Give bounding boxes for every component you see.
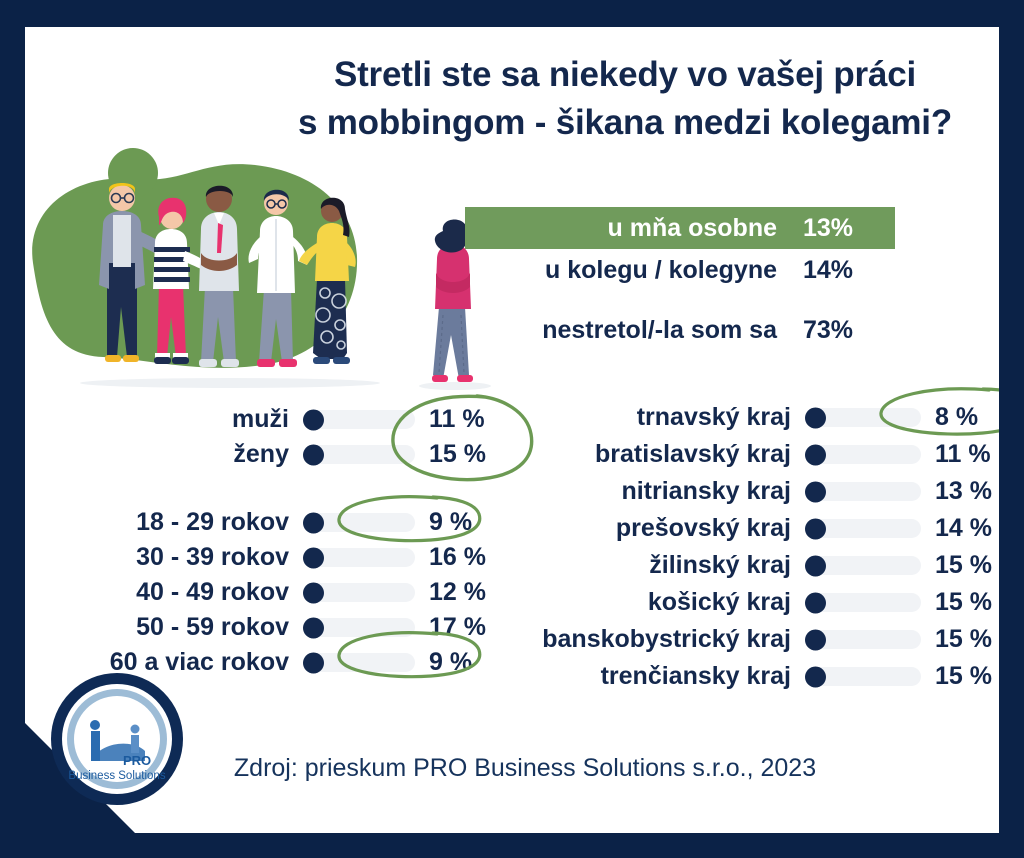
logo-bottom-text: Business Solutions	[68, 770, 165, 782]
stat-label: muži	[85, 405, 303, 434]
stat-row-trnavsky: trnavský kraj 8 %	[515, 399, 999, 436]
stat-value: 15 %	[921, 551, 992, 580]
stat-dot-icon	[303, 512, 324, 533]
stat-dot-icon	[303, 409, 324, 430]
stat-dot-icon	[805, 555, 826, 576]
stat-row-presovsky: prešovský kraj 14 %	[515, 510, 999, 547]
stat-track	[303, 618, 415, 637]
stat-row-bratislavsky: bratislavský kraj 11 %	[515, 436, 999, 473]
stat-label: trnavský kraj	[515, 403, 805, 432]
person-4	[248, 190, 307, 367]
stat-label: nitriansky kraj	[515, 477, 805, 506]
stat-value: 15 %	[921, 588, 992, 617]
stat-row-kosicky: košický kraj 15 %	[515, 584, 999, 621]
stat-row-zilinsky: žilinský kraj 15 %	[515, 547, 999, 584]
stat-track	[805, 556, 921, 575]
stat-label: trenčiansky kraj	[515, 662, 805, 691]
stat-value: 15 %	[415, 440, 486, 469]
stat-label: prešovský kraj	[515, 514, 805, 543]
company-logo: PRO Business Solutions	[47, 669, 187, 809]
stat-label: 30 - 39 rokov	[55, 543, 303, 572]
stat-dot-icon	[805, 407, 826, 428]
stat-track	[303, 445, 415, 464]
person-3	[199, 186, 239, 367]
stat-track	[805, 482, 921, 501]
stat-label: žilinský kraj	[515, 551, 805, 580]
answer-value: 14%	[803, 256, 895, 285]
stat-value: 14 %	[921, 514, 992, 543]
stat-label: 18 - 29 rokov	[55, 508, 303, 537]
stat-label: ženy	[85, 440, 303, 469]
stat-track	[805, 408, 921, 427]
stat-value: 11 %	[921, 440, 991, 469]
stat-track	[805, 445, 921, 464]
answer-label: u kolegu / kolegyne	[465, 256, 803, 285]
stat-track	[805, 667, 921, 686]
stat-track	[303, 653, 415, 672]
stat-row-trenciansky: trenčiansky kraj 15 %	[515, 658, 999, 695]
person-5	[299, 198, 356, 364]
poster-canvas: Stretli ste sa niekedy vo vašej práci s …	[25, 27, 999, 833]
stat-row-age-30-39: 30 - 39 rokov 16 %	[55, 540, 505, 575]
stat-label: 50 - 59 rokov	[55, 613, 303, 642]
stats-gender-group: muži 11 % ženy 15 %	[85, 402, 505, 472]
stat-dot-icon	[805, 629, 826, 650]
stat-label: košický kraj	[515, 588, 805, 617]
stat-dot-icon	[303, 444, 324, 465]
stat-row-age-40-49: 40 - 49 rokov 12 %	[55, 575, 505, 610]
stat-value: 15 %	[921, 625, 992, 654]
answer-label: u mňa osobne	[465, 214, 803, 243]
stat-row-nitriansky: nitriansky kraj 13 %	[515, 473, 999, 510]
stat-dot-icon	[805, 518, 826, 539]
stat-dot-icon	[805, 666, 826, 687]
stat-value: 8 %	[921, 403, 978, 432]
stat-value: 15 %	[921, 662, 992, 691]
answers-spacer	[465, 291, 895, 309]
stat-dot-icon	[303, 547, 324, 568]
stat-track	[303, 410, 415, 429]
stat-track	[303, 548, 415, 567]
title-line-2: s mobbingom - šikana medzi kolegami?	[275, 99, 975, 147]
stats-region-group: trnavský kraj 8 % bratislavský kraj 11 %…	[515, 399, 999, 695]
stat-dot-icon	[805, 444, 826, 465]
stat-label: 40 - 49 rokov	[55, 578, 303, 607]
stat-value: 16 %	[415, 543, 486, 572]
stat-dot-icon	[303, 617, 324, 638]
stat-dot-icon	[805, 592, 826, 613]
logo-top-text: PRO	[123, 753, 151, 768]
answer-row-personal: u mňa osobne 13%	[465, 207, 895, 249]
stat-dot-icon	[303, 582, 324, 603]
stat-value: 17 %	[415, 613, 486, 642]
stat-track	[303, 513, 415, 532]
stat-row-banskobystricky: banskobystrický kraj 15 %	[515, 621, 999, 658]
stat-row-zeny: ženy 15 %	[85, 437, 505, 472]
page-title: Stretli ste sa niekedy vo vašej práci s …	[275, 51, 975, 148]
infographic-poster: Stretli ste sa niekedy vo vašej práci s …	[0, 0, 1024, 858]
stat-dot-icon	[805, 481, 826, 502]
stats-age-group: 18 - 29 rokov 9 % 30 - 39 rokov 16 % 40 …	[55, 505, 505, 680]
stat-track	[805, 630, 921, 649]
stat-track	[805, 519, 921, 538]
answers-block: u mňa osobne 13% u kolegu / kolegyne 14%…	[465, 207, 895, 351]
stat-row-muzi: muži 11 %	[85, 402, 505, 437]
answer-row-never: nestretol/-la som sa 73%	[465, 309, 895, 351]
person-2	[153, 198, 207, 364]
source-text: Zdroj: prieskum PRO Business Solutions s…	[205, 754, 845, 783]
stat-track	[805, 593, 921, 612]
stat-value: 12 %	[415, 578, 486, 607]
stat-dot-icon	[303, 652, 324, 673]
stat-row-age-18-29: 18 - 29 rokov 9 %	[55, 505, 505, 540]
answer-label: nestretol/-la som sa	[465, 316, 803, 345]
stat-row-age-50-59: 50 - 59 rokov 17 %	[55, 610, 505, 645]
stat-value: 9 %	[415, 648, 472, 677]
stat-value: 11 %	[415, 405, 485, 434]
answer-row-colleague: u kolegu / kolegyne 14%	[465, 249, 895, 291]
stat-label: banskobystrický kraj	[515, 625, 805, 654]
title-line-1: Stretli ste sa niekedy vo vašej práci	[275, 51, 975, 99]
answer-value: 73%	[803, 316, 895, 345]
stat-track	[303, 583, 415, 602]
answer-value: 13%	[803, 214, 895, 243]
stat-label: bratislavský kraj	[515, 440, 805, 469]
stat-value: 9 %	[415, 508, 472, 537]
people-group-illustration	[55, 167, 405, 392]
stat-value: 13 %	[921, 477, 992, 506]
